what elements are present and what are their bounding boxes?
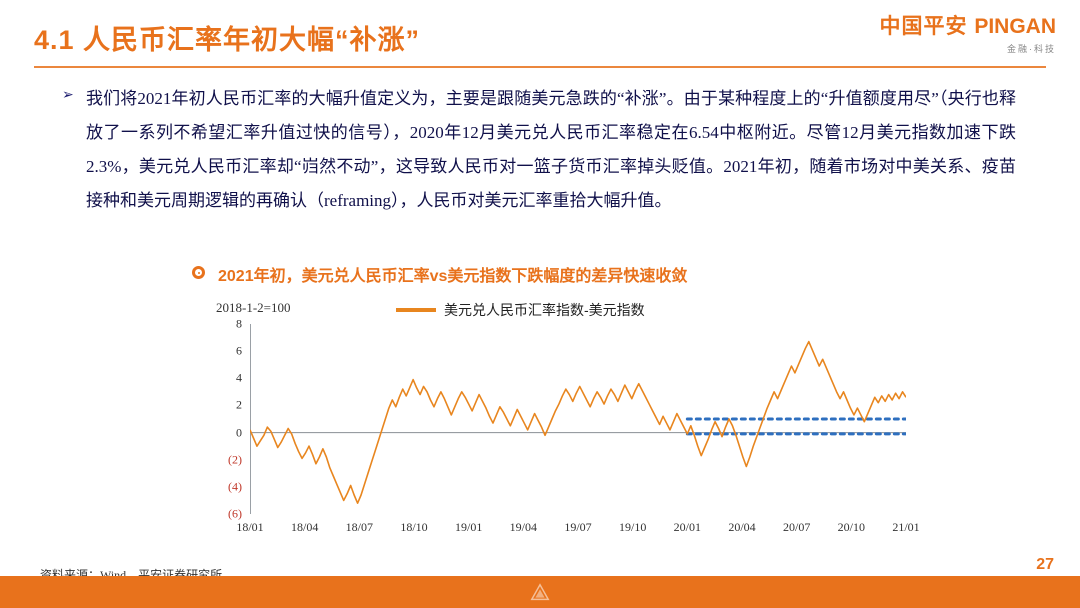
y-tick-label: 0 (236, 425, 242, 440)
x-tick-label: 18/01 (236, 520, 263, 535)
chart-plot-area (250, 324, 906, 514)
header-divider (34, 66, 1046, 68)
x-tick-label: 20/10 (838, 520, 865, 535)
y-tick-label: 2 (236, 398, 242, 413)
bullet-dot-icon (192, 266, 205, 279)
x-tick-label: 18/07 (346, 520, 373, 535)
x-tick-label: 19/10 (619, 520, 646, 535)
chart-svg (250, 324, 906, 514)
chart-unit-note: 2018-1-2=100 (216, 300, 291, 316)
bullet-icon: ➢ (62, 86, 74, 103)
y-tick-label: 8 (236, 317, 242, 332)
chart-legend: 美元兑人民币汇率指数-美元指数 (396, 300, 645, 320)
brand-logo: 中国平安 PINGAN 金融·科技 (879, 10, 1056, 55)
brand-logo-sub: 金融·科技 (879, 42, 1056, 55)
body-paragraph: 我们将2021年初人民币汇率的大幅升值定义为，主要是跟随美元急跌的“补涨”。由于… (86, 82, 1016, 218)
x-tick-label: 21/01 (892, 520, 919, 535)
x-tick-label: 19/07 (564, 520, 591, 535)
series-line (250, 342, 906, 504)
slide: 4.1 人民币汇率年初大幅“补涨” 中国平安 PINGAN 金融·科技 ➢ 我们… (0, 0, 1080, 608)
chart-container: 2021年初，美元兑人民币汇率vs美元指数下跌幅度的差异快速收敛 2018-1-… (170, 262, 910, 552)
footer-emblem-icon (529, 582, 551, 604)
brand-logo-cn: 中国平安 (879, 15, 967, 38)
y-tick-label: 6 (236, 344, 242, 359)
x-tick-label: 19/01 (455, 520, 482, 535)
x-tick-label: 20/01 (674, 520, 701, 535)
chart-y-axis: 86420(2)(4)(6) (216, 324, 246, 514)
x-tick-label: 18/04 (291, 520, 318, 535)
x-tick-label: 19/04 (510, 520, 537, 535)
chart-title: 2021年初，美元兑人民币汇率vs美元指数下跌幅度的差异快速收敛 (218, 262, 687, 286)
x-tick-label: 20/07 (783, 520, 810, 535)
page-number: 27 (1036, 556, 1054, 574)
page-title: 4.1 人民币汇率年初大幅“补涨” (34, 18, 420, 57)
brand-logo-text: 中国平安 PINGAN (879, 10, 1056, 40)
x-tick-label: 20/04 (728, 520, 755, 535)
legend-swatch-icon (396, 308, 436, 312)
brand-logo-en: PINGAN (974, 15, 1056, 38)
chart-plot: 86420(2)(4)(6) 18/0118/0418/0718/1019/01… (216, 324, 906, 514)
x-tick-label: 18/10 (400, 520, 427, 535)
legend-label: 美元兑人民币汇率指数-美元指数 (444, 300, 645, 320)
y-tick-label: (4) (228, 479, 242, 494)
y-tick-label: (2) (228, 452, 242, 467)
y-tick-label: 4 (236, 371, 242, 386)
chart-x-axis: 18/0118/0418/0718/1019/0119/0419/0719/10… (250, 520, 906, 538)
